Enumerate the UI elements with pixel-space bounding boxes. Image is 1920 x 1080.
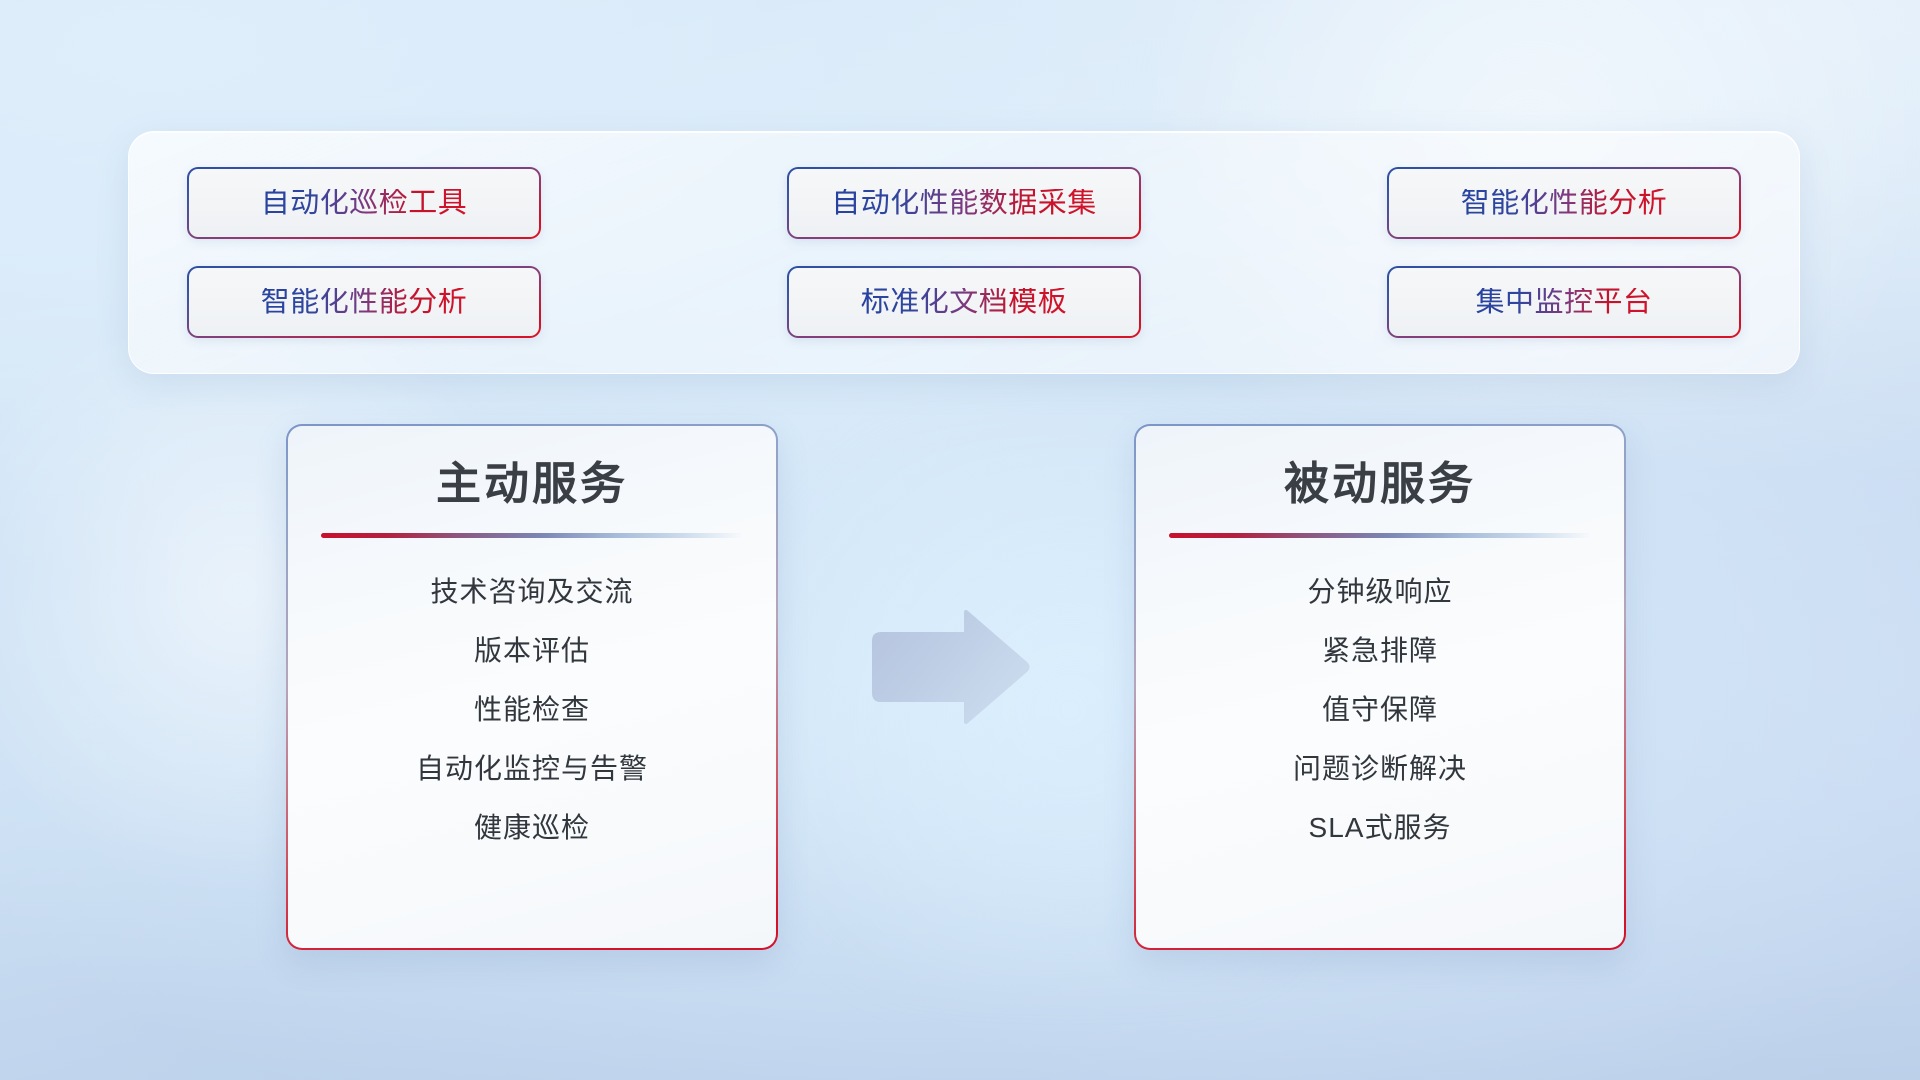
list-item: 问题诊断解决 bbox=[1293, 749, 1467, 788]
diagram-canvas: 自动化巡检工具 自动化性能数据采集 智能化性能分析 智能化性能分析 bbox=[0, 0, 1920, 1080]
capability-pill-inner: 智能化性能分析 bbox=[1389, 169, 1739, 237]
right-arrow-icon bbox=[866, 608, 1034, 726]
service-card-reactive[interactable]: 被动服务 分钟级响应 紧急排障 值守保障 问题诊断解决 SLA式服务 bbox=[1134, 424, 1626, 950]
list-item: 技术咨询及交流 bbox=[430, 572, 633, 611]
capability-row-1: 自动化巡检工具 自动化性能数据采集 智能化性能分析 bbox=[187, 167, 1741, 239]
list-item: 紧急排障 bbox=[1322, 631, 1438, 670]
capability-pill-label: 自动化性能数据采集 bbox=[831, 189, 1097, 218]
capability-pill-2-3[interactable]: 集中监控平台 bbox=[1387, 266, 1741, 338]
list-item: 版本评估 bbox=[474, 631, 590, 670]
service-list-reactive: 分钟级响应 紧急排障 值守保障 问题诊断解决 SLA式服务 bbox=[1136, 572, 1624, 848]
card-title-underline bbox=[1169, 533, 1591, 538]
capability-pill-inner: 标准化文档模板 bbox=[789, 268, 1139, 336]
capability-pill-inner: 智能化性能分析 bbox=[189, 268, 539, 336]
capability-pill-label: 智能化性能分析 bbox=[261, 288, 468, 317]
capability-pill-2-2[interactable]: 标准化文档模板 bbox=[787, 266, 1141, 338]
capability-panel: 自动化巡检工具 自动化性能数据采集 智能化性能分析 智能化性能分析 bbox=[128, 131, 1800, 374]
capability-pill-label: 集中监控平台 bbox=[1475, 288, 1652, 317]
card-title-proactive: 主动服务 bbox=[436, 459, 628, 509]
service-card-proactive[interactable]: 主动服务 技术咨询及交流 版本评估 性能检查 自动化监控与告警 健康巡检 bbox=[286, 424, 778, 950]
capability-pill-label: 智能化性能分析 bbox=[1461, 189, 1668, 218]
service-card-body: 被动服务 分钟级响应 紧急排障 值守保障 问题诊断解决 SLA式服务 bbox=[1136, 426, 1624, 948]
capability-row-2: 智能化性能分析 标准化文档模板 集中监控平台 bbox=[187, 266, 1741, 338]
list-item: 自动化监控与告警 bbox=[416, 749, 648, 788]
list-item: 性能检查 bbox=[474, 690, 590, 729]
card-title-underline bbox=[321, 533, 743, 538]
capability-pill-inner: 自动化性能数据采集 bbox=[789, 169, 1139, 237]
capability-pill-inner: 自动化巡检工具 bbox=[189, 169, 539, 237]
capability-pill-1-2[interactable]: 自动化性能数据采集 bbox=[787, 167, 1141, 239]
list-item: 值守保障 bbox=[1322, 690, 1438, 729]
capability-pill-label: 标准化文档模板 bbox=[861, 288, 1068, 317]
capability-pill-label: 自动化巡检工具 bbox=[261, 189, 468, 218]
service-list-proactive: 技术咨询及交流 版本评估 性能检查 自动化监控与告警 健康巡检 bbox=[288, 572, 776, 848]
service-card-body: 主动服务 技术咨询及交流 版本评估 性能检查 自动化监控与告警 健康巡检 bbox=[288, 426, 776, 948]
capability-pill-1-1[interactable]: 自动化巡检工具 bbox=[187, 167, 541, 239]
capability-pill-inner: 集中监控平台 bbox=[1389, 268, 1739, 336]
list-item: 健康巡检 bbox=[474, 808, 590, 847]
list-item: SLA式服务 bbox=[1309, 808, 1452, 847]
card-title-reactive: 被动服务 bbox=[1284, 459, 1476, 509]
list-item: 分钟级响应 bbox=[1307, 572, 1452, 611]
capability-pill-2-1[interactable]: 智能化性能分析 bbox=[187, 266, 541, 338]
capability-pill-1-3[interactable]: 智能化性能分析 bbox=[1387, 167, 1741, 239]
